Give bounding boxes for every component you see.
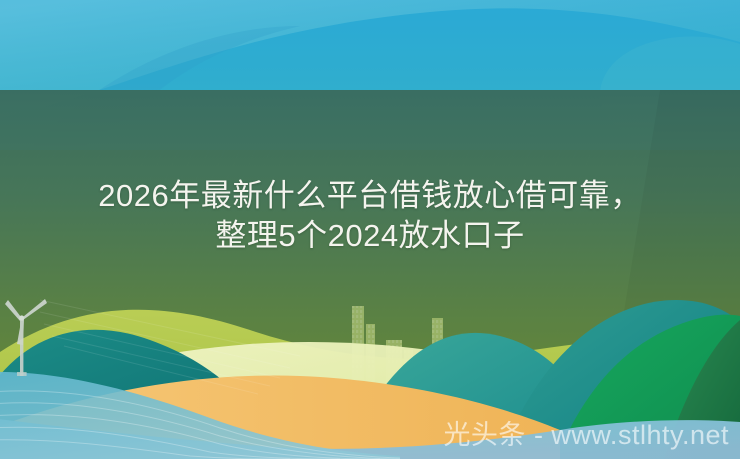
promo-banner: 2026年最新什么平台借钱放心借可靠， 整理5个2024放水口子 光头条 - w… — [0, 0, 740, 459]
turbine-base — [17, 372, 27, 376]
headline: 2026年最新什么平台借钱放心借可靠， 整理5个2024放水口子 — [0, 176, 740, 256]
site-watermark: 光头条 - www.stlhty.net — [443, 420, 729, 450]
headline-line-1: 2026年最新什么平台借钱放心借可靠， — [0, 176, 740, 216]
turbine-hub — [19, 315, 24, 320]
headline-line-2: 整理5个2024放水口子 — [0, 216, 740, 256]
